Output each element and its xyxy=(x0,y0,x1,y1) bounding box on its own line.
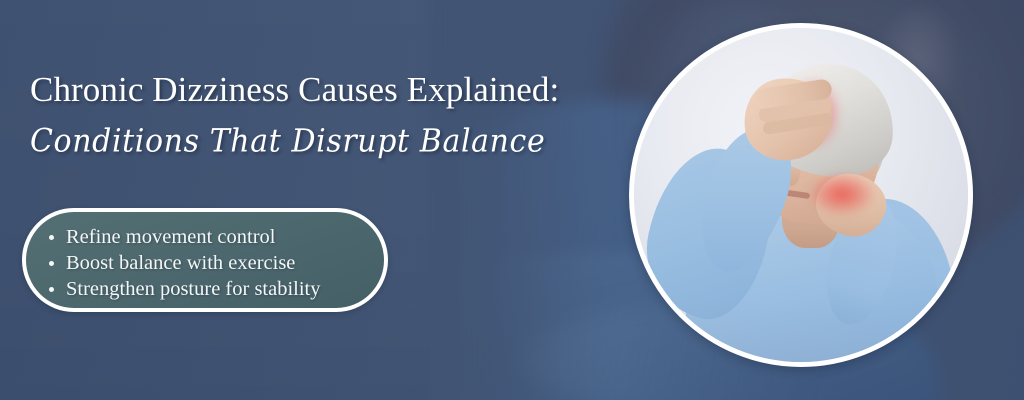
list-item: Boost balance with exercise xyxy=(48,250,384,276)
list-item: Strengthen posture for stability xyxy=(48,276,384,302)
photo-bottom-shadow xyxy=(634,302,968,362)
benefits-list: Refine movement control Boost balance wi… xyxy=(26,212,384,302)
benefits-card: Refine movement control Boost balance wi… xyxy=(22,208,388,312)
photo-neck-pain-glow xyxy=(796,164,888,224)
list-item-label: Strengthen posture for stability xyxy=(66,278,321,300)
list-item-label: Refine movement control xyxy=(66,226,276,248)
hero-photo-circle xyxy=(629,23,973,367)
page-title: Chronic Dizziness Causes Explained: xyxy=(30,72,559,107)
bullet-dot-icon xyxy=(49,261,54,266)
page-subtitle: Conditions That Disrupt Balance xyxy=(30,126,545,158)
bullet-dot-icon xyxy=(49,235,54,240)
bullet-dot-icon xyxy=(49,287,54,292)
list-item: Refine movement control xyxy=(48,224,384,250)
promo-banner: Chronic Dizziness Causes Explained: Cond… xyxy=(0,0,1024,400)
list-item-label: Boost balance with exercise xyxy=(66,252,295,274)
woman-headache-photo xyxy=(634,28,968,362)
